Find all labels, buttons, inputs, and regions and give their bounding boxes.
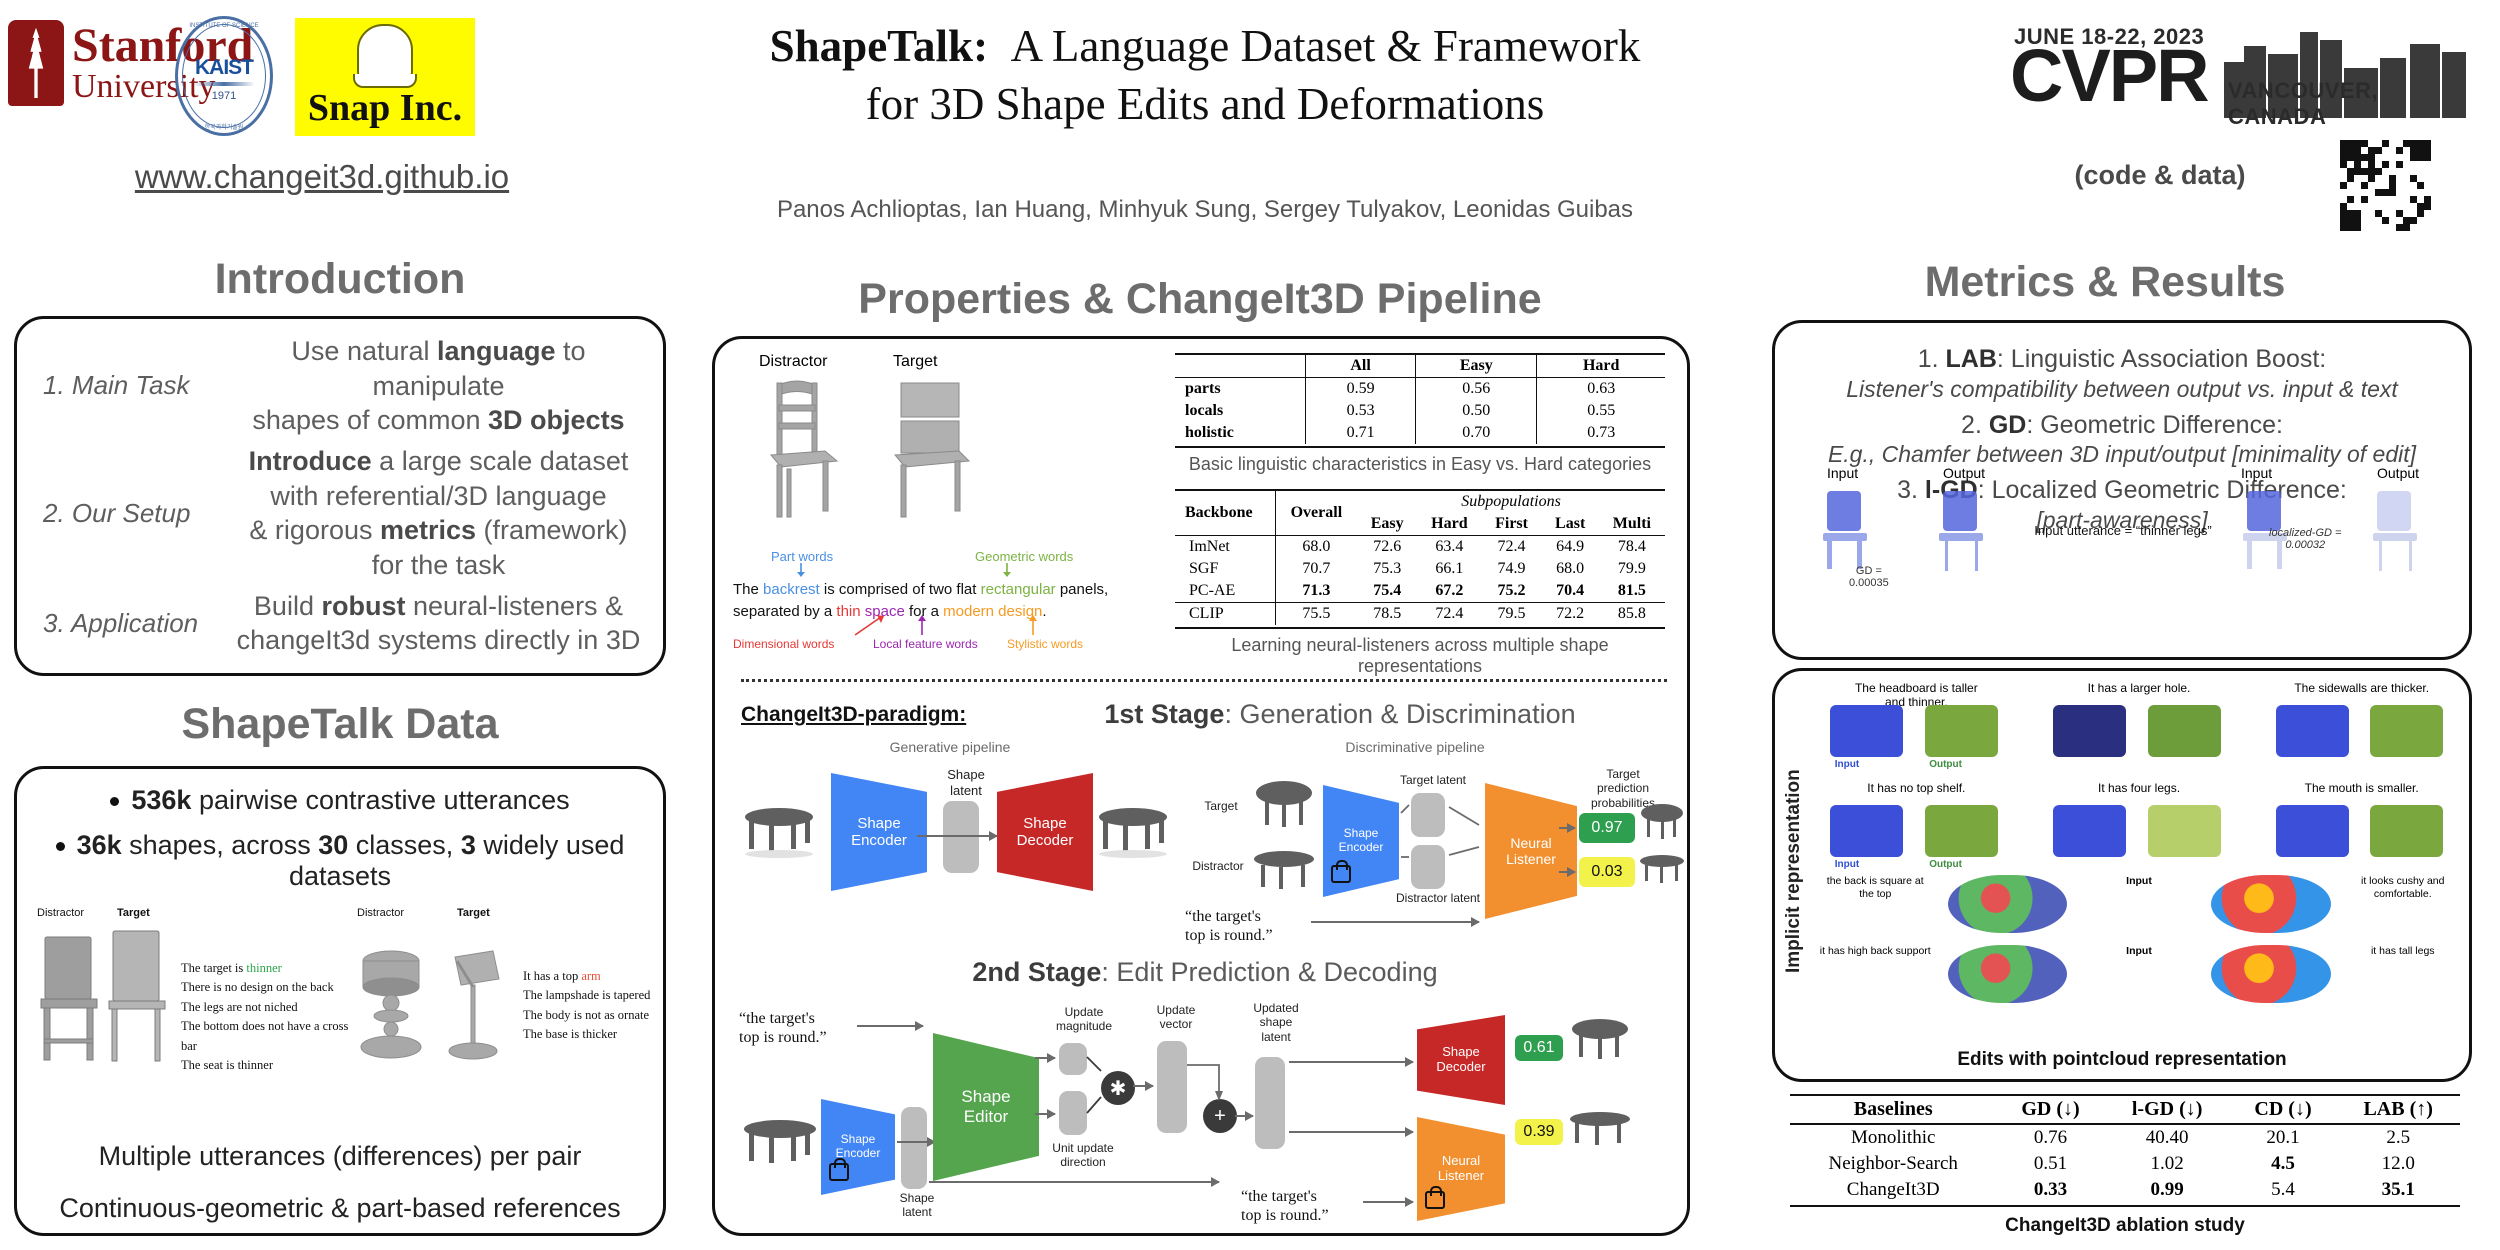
pointcloud-caption-cell: it has tall legs xyxy=(2337,945,2470,958)
results-cell: 0.76 xyxy=(1996,1124,2104,1151)
backbone-table-caption: Learning neural-listeners across multipl… xyxy=(1175,635,1665,677)
implicit-results-card: Implicit representation The headboard is… xyxy=(1772,668,2472,1082)
implicit-input-label: Input xyxy=(1835,859,1859,870)
kaist-year: 1971 xyxy=(175,90,273,102)
chair-pair-render xyxy=(31,921,181,1081)
implicit-output-shape xyxy=(2148,805,2221,857)
edit-output-round-table-icon xyxy=(1565,1013,1635,1073)
intro-row-text: Build robust neural-listeners &changeIt3… xyxy=(232,589,663,658)
qr-code[interactable] xyxy=(2340,140,2432,232)
results-cell: 20.1 xyxy=(2230,1124,2337,1151)
results-cell: 5.4 xyxy=(2230,1177,2337,1203)
utterance-to-listener-arrow-icon xyxy=(1311,921,1479,923)
implicit-cell: It has no top shelf.InputOutput xyxy=(1809,781,2024,877)
updated-to-listener-arrow-icon xyxy=(1289,1131,1413,1133)
results-cell: 4.5 xyxy=(2230,1151,2337,1177)
results-table-caption: ChangeIt3D ablation study xyxy=(1790,1215,2460,1237)
data-bullet: 36k shapes, across 30 classes, 3 widely … xyxy=(31,830,649,892)
implicit-output-label: Output xyxy=(1929,759,1962,770)
introduction-heading: Introduction xyxy=(10,255,670,304)
author-list: Panos Achlioptas, Ian Huang, Minhyuk Sun… xyxy=(640,196,1770,224)
metric-description: Listener's compatibility between output … xyxy=(1791,376,2453,403)
pipeline-card: Distractor Target Part words Geom xyxy=(712,336,1690,1236)
encoder-to-decoder-arrow-icon xyxy=(917,835,997,837)
vector-to-plus-arrow-icon xyxy=(1181,1059,1229,1107)
snap-wordmark: Snap Inc. xyxy=(295,86,475,130)
listener-to-low-arrow-icon xyxy=(1559,871,1575,873)
unit-update-direction-label: Unit update direction xyxy=(1035,1141,1131,1170)
implicit-cell: It has a larger hole. xyxy=(2032,681,2247,777)
to-multiply-arrows-icon xyxy=(1085,1043,1125,1133)
title-line1-rest: A Language Dataset & Framework xyxy=(1011,21,1641,71)
kaist-wordmark: KAIST xyxy=(175,56,273,80)
results-cell xyxy=(1790,1203,2460,1206)
gd-demo: Input Output GD = 0.00035 Input utteranc… xyxy=(1785,465,2465,645)
snapchat-ghost-icon xyxy=(357,24,413,86)
implicit-row: The headboard is taller and thinner.Inpu… xyxy=(1809,681,2469,777)
kaist-logo: INSTITUTE OF SCIENCE KAIST 1971 한국과학기술원 xyxy=(175,16,273,136)
update-magnitude-label: Update magnitude xyxy=(1041,1005,1127,1034)
pipeline-distractor-label: Distractor xyxy=(759,353,827,371)
kaist-ring-top-text: INSTITUTE OF SCIENCE xyxy=(175,23,273,29)
results-cell: 12.0 xyxy=(2336,1151,2460,1177)
shapetalk-data-card: 536k pairwise contrastive utterances36k … xyxy=(14,766,666,1236)
utterance-line: The seat is thinner xyxy=(181,1056,357,1075)
input-table-pointcloud-icon xyxy=(737,791,821,861)
intro-row-label: 3. Application xyxy=(17,608,232,639)
introduction-card: 1. Main TaskUse natural language to mani… xyxy=(14,316,666,676)
results-table: BaselinesGD (↓)l-GD (↓)CD (↓)LAB (↑)Mono… xyxy=(1790,1094,2460,1207)
results-cell: Baselines xyxy=(1790,1095,1996,1124)
lgd-output-chair-pointcloud-icon xyxy=(2355,485,2435,575)
utterance-line: The base is thicker xyxy=(523,1025,663,1044)
predicted-rect-table-icon xyxy=(1637,849,1687,891)
lock-icon xyxy=(1331,865,1351,883)
results-cell: 0.99 xyxy=(2105,1177,2230,1203)
implicit-output-shape xyxy=(2370,705,2443,757)
gd-output-label: Output xyxy=(1943,465,1985,481)
editor-to-magnitude-arrow-icon xyxy=(1035,1057,1055,1059)
results-cell: Monolithic xyxy=(1790,1124,1996,1151)
chair-example: Distractor Target The target is thinnerT… xyxy=(31,907,351,1137)
implicit-output-shape xyxy=(2148,705,2221,757)
lamp-utterances: It has a top armThe lampshade is tapered… xyxy=(523,967,663,1045)
edit-output-rect-table-icon xyxy=(1565,1103,1635,1161)
linguistic-table-caption: Basic linguistic characteristics in Easy… xyxy=(1175,454,1665,475)
gd-input-label: Input xyxy=(1827,465,1858,481)
implicit-cell-caption: The sidewalls are thicker. xyxy=(2254,681,2469,695)
linguistic-table-block: AllEasyHardparts0.590.560.63locals0.530.… xyxy=(1175,353,1675,475)
implicit-cell: It has four legs. xyxy=(2032,781,2247,877)
intro-row-text: Use natural language to manipulateshapes… xyxy=(232,334,663,438)
edit-shape-latent-label: Shape latent xyxy=(887,1191,947,1220)
multiply-to-vector-arrow-icon xyxy=(1133,1085,1153,1087)
updated-shape-latent-label: Updated shape latent xyxy=(1241,1001,1311,1044)
generative-pipeline-title: Generative pipeline xyxy=(735,739,1165,755)
probability-high: 0.97 xyxy=(1579,813,1635,843)
cvpr-wordmark: CVPR xyxy=(2010,42,2208,110)
implicit-output-label: Output xyxy=(1929,859,1962,870)
lgd-value: localized-GD = 0.00032 xyxy=(2269,527,2341,551)
shape-editor-block: Shape Editor xyxy=(933,1033,1039,1181)
unit-update-direction-block xyxy=(1059,1091,1087,1135)
latent-to-editor-arrow-icon xyxy=(897,1141,935,1143)
metrics-card: 1. LAB: Linguistic Association Boost:Lis… xyxy=(1772,320,2472,660)
chair-target-label: Target xyxy=(117,907,150,919)
title-shapetalk: ShapeTalk: xyxy=(770,21,988,71)
implicit-cell: The sidewalls are thicker. xyxy=(2254,681,2469,777)
properties-pipeline-heading: Properties & ChangeIt3D Pipeline xyxy=(700,275,1700,324)
utterance-line: There is no design on the back xyxy=(181,978,357,997)
rect-table-pointcloud-icon xyxy=(1249,843,1319,895)
utterance2-to-listener-arrow-icon xyxy=(1363,1201,1413,1203)
pointcloud-shape xyxy=(2211,945,2330,1003)
pointcloud-caption: Edits with pointcloud representation xyxy=(1775,1049,2469,1071)
local-feature-words-label: Local feature words xyxy=(873,637,978,651)
shape-decoder-block: Shape Decoder xyxy=(997,773,1093,891)
edit-lock-icon xyxy=(829,1163,849,1181)
data-bullet: 536k pairwise contrastive utterances xyxy=(31,785,649,816)
stylistic-words-label: Stylistic words xyxy=(1007,637,1083,651)
gd-utterance-label: Input utterance = “thinner legs” xyxy=(2013,523,2233,538)
edit-probability-low: 0.39 xyxy=(1515,1119,1563,1145)
lgd-input-label: Input xyxy=(2241,465,2272,481)
changeit3d-paradigm-label: ChangeIt3D-paradigm: xyxy=(741,703,966,727)
lamp-example: Distractor Target It has a top armThe la xyxy=(353,907,655,1137)
editor-to-direction-arrow-icon xyxy=(1035,1113,1055,1115)
chair-distractor-label: Distractor xyxy=(37,907,84,919)
edit-probability-high: 0.61 xyxy=(1515,1035,1563,1061)
chair-utterances: The target is thinnerThere is no design … xyxy=(181,959,357,1075)
updated-shape-latent-block xyxy=(1255,1057,1285,1149)
results-cell: ChangeIt3D xyxy=(1790,1177,1996,1203)
round-table-pointcloud-icon xyxy=(1249,777,1319,833)
pointcloud-row: the back is square at the topInputit loo… xyxy=(1809,875,2469,945)
geometric-words-label: Geometric words xyxy=(975,549,1073,564)
stage1-title: 1st Stage: Generation & Discrimination xyxy=(1015,699,1665,730)
shapetalk-data-heading: ShapeTalk Data xyxy=(10,700,670,749)
results-cell: 0.33 xyxy=(1996,1177,2104,1203)
snap-logo: Snap Inc. xyxy=(295,18,475,136)
pointcloud-shape xyxy=(1948,875,2067,933)
annotation-top-arrows-icon xyxy=(765,563,1075,579)
linguistic-table: AllEasyHardparts0.590.560.63locals0.530.… xyxy=(1175,353,1665,448)
output-table-pointcloud-icon xyxy=(1091,791,1175,861)
predicted-round-table-icon xyxy=(1637,801,1687,847)
lgd-output-label: Output xyxy=(2377,465,2419,481)
kaist-underline-icon xyxy=(193,82,255,86)
intro-row-text: Introduce a large scale datasetwith refe… xyxy=(232,444,663,582)
cvpr-city: VANCOUVER, CANADA xyxy=(2228,78,2470,130)
implicit-representation-label: Implicit representation xyxy=(1783,723,1805,973)
pointcloud-caption-cell: it looks cushy and comfortable. xyxy=(2337,875,2470,900)
code-and-data-label: (code & data) xyxy=(2010,160,2310,191)
generative-pipeline-diagram: Generative pipeline Shape Encoder Shape … xyxy=(735,739,1165,929)
lamp-pair-render xyxy=(353,921,523,1091)
chair-pair-pipeline-render xyxy=(751,377,1001,547)
shape-encoder-block: Shape Encoder xyxy=(831,773,927,891)
edit-listener-lock-icon xyxy=(1425,1191,1445,1209)
implicit-input-label: Input xyxy=(1835,759,1859,770)
implicit-input-shape xyxy=(2276,805,2349,857)
implicit-row: It has no top shelf.InputOutputIt has fo… xyxy=(1809,781,2469,877)
pipeline-target-label: Target xyxy=(893,353,937,371)
utterance-line: The bottom does not have a cross bar xyxy=(181,1017,357,1056)
implicit-cell-caption: It has no top shelf. xyxy=(1809,781,2024,795)
disc-distractor-label: Distractor xyxy=(1185,859,1251,873)
results-cell: 40.40 xyxy=(2105,1124,2230,1151)
implicit-input-shape xyxy=(1830,805,1903,857)
gd-output-chair-pointcloud-icon xyxy=(1921,485,2001,575)
results-cell: GD (↓) xyxy=(1996,1095,2104,1124)
pointcloud-caption-cell: Input xyxy=(2073,945,2206,958)
pointcloud-caption-wrap: Edits with pointcloud representation xyxy=(1775,1049,2469,1071)
shape-latent-label: Shape latent xyxy=(931,767,1001,798)
poster-title: ShapeTalk: A Language Dataset & Framewor… xyxy=(640,18,1770,133)
edit-utterance-1: “the target's top is round.” xyxy=(739,1009,827,1047)
edit-input-table-icon xyxy=(735,1105,825,1175)
pointcloud-caption-cell: it has high back support xyxy=(1809,945,1942,958)
metric-description: E.g., Chamfer between 3D input/output [m… xyxy=(1791,441,2453,468)
implicit-cell-caption: It has four legs. xyxy=(2032,781,2247,795)
cvpr-logo: JUNE 18-22, 2023 CVPR VANCOUVER, CANADA xyxy=(2010,8,2470,138)
discriminative-pipeline-title: Discriminative pipeline xyxy=(1185,739,1645,755)
utterance-line: The lampshade is tapered xyxy=(523,986,663,1005)
results-cell: l-GD (↓) xyxy=(2105,1095,2230,1124)
latent-bypass-arrow-icon xyxy=(929,1181,1219,1183)
gd-input-chair-pointcloud-icon xyxy=(1805,485,1885,575)
logo-row: Stanford University INSTITUTE OF SCIENCE… xyxy=(0,8,660,158)
results-cell: 35.1 xyxy=(2336,1177,2460,1203)
intro-row: 1. Main TaskUse natural language to mani… xyxy=(17,334,663,438)
disc-target-label: Target xyxy=(1191,799,1251,813)
neural-listener-block: Neural Listener xyxy=(1485,783,1577,919)
results-cell: CD (↓) xyxy=(2230,1095,2337,1124)
implicit-output-shape xyxy=(1925,705,1998,757)
metric-title: 1. LAB: Linguistic Association Boost: xyxy=(1791,343,2453,376)
results-cell: LAB (↑) xyxy=(2336,1095,2460,1124)
pointcloud-shape xyxy=(2211,875,2330,933)
implicit-cell: The headboard is taller and thinner.Inpu… xyxy=(1809,681,2024,777)
lamp-distractor-label: Distractor xyxy=(357,907,404,919)
footer-bullet-2: Continuous-geometric & part-based refere… xyxy=(17,1193,663,1224)
update-vector-label: Update vector xyxy=(1141,1003,1211,1032)
implicit-output-shape xyxy=(1925,805,1998,857)
implicit-cell-caption: It has a larger hole. xyxy=(2032,681,2247,695)
listener-to-high-arrow-icon xyxy=(1559,827,1575,829)
part-words-label: Part words xyxy=(771,549,833,564)
edit-shape-decoder-block: Shape Decoder xyxy=(1417,1015,1505,1105)
results-cell: 1.02 xyxy=(2105,1151,2230,1177)
gd-value: GD = 0.00035 xyxy=(1849,565,1889,589)
utterance-line: It has a top arm xyxy=(523,967,663,986)
pointcloud-caption-cell: the back is square at the top xyxy=(1809,875,1942,900)
implicit-input-shape xyxy=(1830,705,1903,757)
intro-row-label: 2. Our Setup xyxy=(17,498,232,529)
dimensional-words-label: Dimensional words xyxy=(733,637,834,651)
metrics-results-heading: Metrics & Results xyxy=(1720,258,2490,307)
implicit-output-shape xyxy=(2370,805,2443,857)
backbone-table: BackboneOverallSubpopulationsEasyHardFir… xyxy=(1175,489,1665,629)
target-latent-label: Target latent xyxy=(1383,773,1483,787)
update-magnitude-block xyxy=(1059,1043,1087,1075)
intro-row: 3. ApplicationBuild robust neural-listen… xyxy=(17,589,663,658)
edit-utterance-2: “the target's top is round.” xyxy=(1241,1187,1329,1225)
edit-pipeline-diagram: “the target's top is round.” Shape Encod… xyxy=(729,995,1679,1227)
disc-utterance: “the target's top is round.” xyxy=(1185,907,1273,945)
pointcloud-shape xyxy=(1948,945,2067,1003)
results-cell: Neighbor-Search xyxy=(1790,1151,1996,1177)
dataset-examples: Distractor Target The target is thinnerT… xyxy=(31,907,655,1137)
pointcloud-grid: the back is square at the topInputit loo… xyxy=(1809,875,2469,1025)
intro-row-label: 1. Main Task xyxy=(17,370,232,401)
project-website-link[interactable]: www.changeit3d.github.io xyxy=(22,158,622,196)
section-divider xyxy=(741,679,1667,682)
utterance-line: The body is not as ornate xyxy=(523,1006,663,1025)
probability-low: 0.03 xyxy=(1579,857,1635,887)
chair-annotation-block: Distractor Target Part words Geom xyxy=(725,353,1145,643)
intro-row: 2. Our SetupIntroduce a large scale data… xyxy=(17,444,663,582)
results-cell: 0.51 xyxy=(1996,1151,2104,1177)
plus-to-updated-arrow-icon xyxy=(1235,1115,1253,1117)
implicit-input-shape xyxy=(2276,705,2349,757)
footer-bullet-1: Multiple utterances (differences) per pa… xyxy=(17,1141,663,1172)
pointcloud-caption-cell: Input xyxy=(2073,875,2206,888)
backbone-table-block: BackboneOverallSubpopulationsEasyHardFir… xyxy=(1175,489,1675,677)
stage2-title: 2nd Stage: Edit Prediction & Decoding xyxy=(895,957,1515,988)
pointcloud-row: it has high back supportInputit has tall… xyxy=(1809,945,2469,1015)
discriminative-pipeline-diagram: Discriminative pipeline Target Distracto… xyxy=(1185,739,1685,959)
annotation-bottom-arrows-icon xyxy=(785,615,1095,637)
stanford-tree-icon xyxy=(8,20,64,106)
implicit-input-shape xyxy=(2053,705,2126,757)
title-line2: for 3D Shape Edits and Deformations xyxy=(640,76,1770,134)
kaist-ring-bottom-text: 한국과학기술원 xyxy=(175,122,273,131)
utterance-line: The legs are not niched xyxy=(181,998,357,1017)
implicit-input-shape xyxy=(2053,805,2126,857)
edit-shape-latent-block xyxy=(901,1107,927,1189)
results-cell: 2.5 xyxy=(2336,1124,2460,1151)
updated-to-decoder-arrow-icon xyxy=(1289,1061,1413,1063)
lamp-target-label: Target xyxy=(457,907,490,919)
implicit-cell-caption: The mouth is smaller. xyxy=(2254,781,2469,795)
utterance-to-editor-arrow-icon xyxy=(857,1025,923,1027)
shape-latent-block xyxy=(943,801,979,873)
poster-root: Stanford University INSTITUTE OF SCIENCE… xyxy=(0,0,2500,1250)
metric-title: 2. GD: Geometric Difference: xyxy=(1791,409,2453,442)
results-table-block: BaselinesGD (↓)l-GD (↓)CD (↓)LAB (↑)Mono… xyxy=(1790,1094,2460,1237)
utterance-line: The target is thinner xyxy=(181,959,357,978)
implicit-cell: The mouth is smaller. xyxy=(2254,781,2469,877)
